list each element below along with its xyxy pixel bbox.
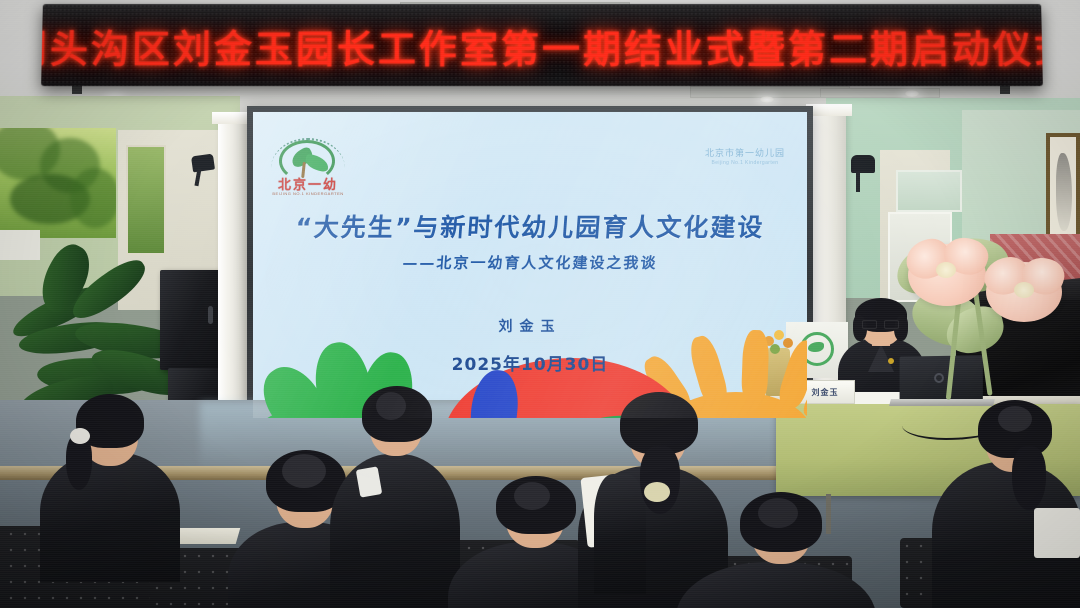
wall-lamp-icon — [851, 155, 875, 173]
column-left — [218, 118, 250, 418]
slide-org-label: 北京市第一幼儿园 Beijing No.1 Kindergarten — [705, 146, 785, 166]
laptop-screen — [900, 355, 983, 402]
wall-lamp-icon — [191, 154, 215, 173]
led-banner-text: 门头沟区刘金玉园长工作室第一期结业式暨第二期启动仪式 — [41, 18, 1043, 73]
slide-org-chinese: 北京市第一幼儿园 — [705, 146, 785, 159]
window-with-foliage — [0, 128, 116, 238]
conference-photo-scene: 北京一幼 BEIJING NO.1 KINDERGARTEN 北京市第一幼儿园 … — [0, 0, 1080, 608]
nameplate-text: 刘金玉 — [812, 387, 839, 398]
logo-sub-text: BEIJING NO.1 KINDERGARTEN — [271, 191, 345, 196]
ceiling-downlight — [905, 90, 919, 97]
slide-presenter-name: 刘金玉 — [253, 316, 807, 336]
slide-org-english: Beijing No.1 Kindergarten — [705, 160, 785, 166]
glasses-icon — [862, 320, 900, 329]
flower-center — [1014, 282, 1034, 298]
ceiling-downlight — [760, 96, 774, 103]
projection-screen-frame: 北京一幼 BEIJING NO.1 KINDERGARTEN 北京市第一幼儿园 … — [247, 106, 813, 424]
ceiling-vent — [820, 88, 940, 98]
writing-tablet — [174, 528, 241, 544]
led-banner: 门头沟区刘金玉园长工作室第一期结业式暨第二期启动仪式 — [41, 4, 1043, 86]
slide-title: “大先生”与新时代幼儿园育人文化建设 — [253, 208, 807, 244]
flower-center — [936, 262, 956, 278]
wall-lamp-arm — [856, 172, 860, 192]
presenter-badge — [888, 358, 894, 364]
slide-date: 2025年10月30日 — [253, 350, 807, 375]
wall-niche — [896, 170, 962, 212]
kindergarten-logo: 北京一幼 BEIJING NO.1 KINDERGARTEN — [267, 140, 349, 198]
slide-subtitle: ——北京一幼育人文化建设之我谈 — [253, 252, 807, 273]
table-leg — [826, 494, 831, 534]
pa-speaker-top — [160, 270, 220, 370]
projection-slide: 北京一幼 BEIJING NO.1 KINDERGARTEN 北京市第一幼儿园 … — [253, 112, 807, 418]
logo-chinese-text: 北京一幼 — [271, 178, 345, 191]
